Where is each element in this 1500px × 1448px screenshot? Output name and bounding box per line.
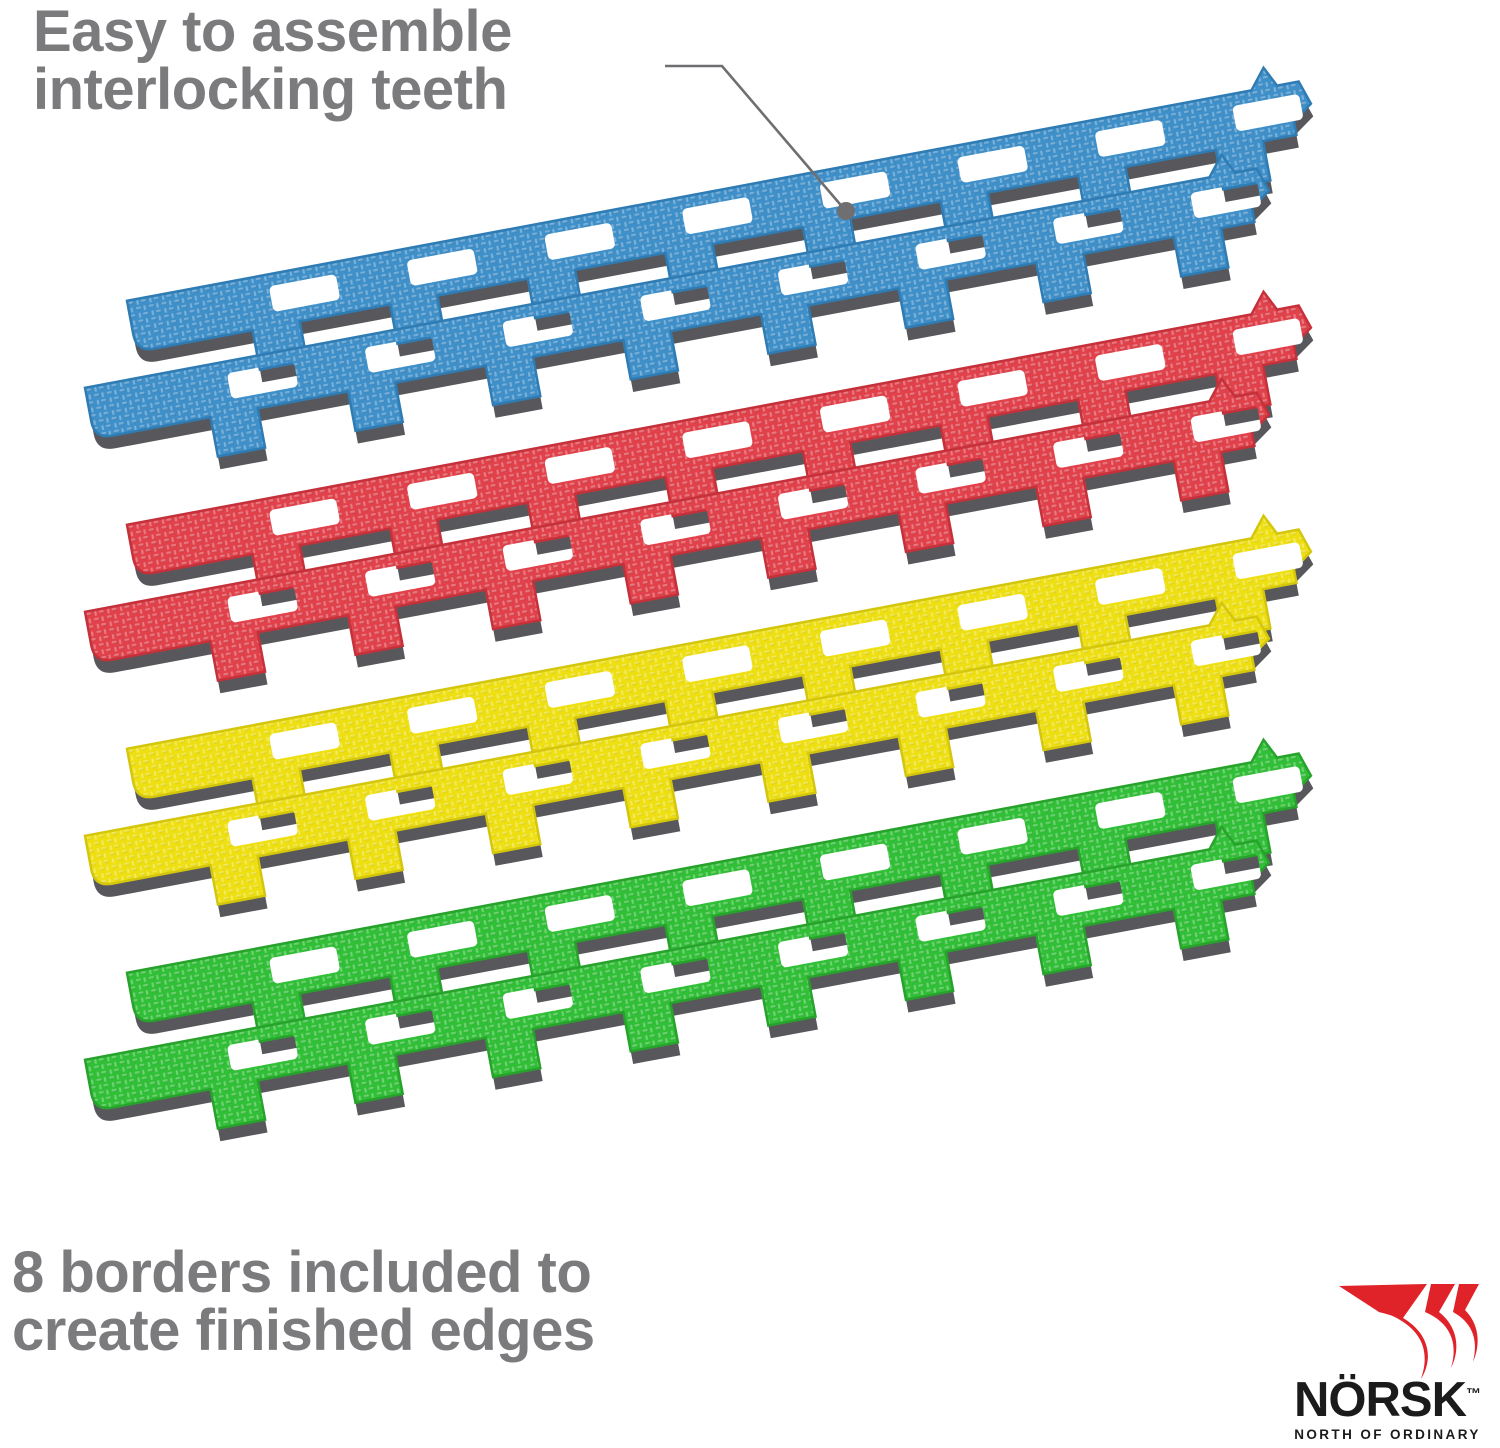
footline-text: 8 borders included to create finished ed…: [12, 1244, 595, 1360]
norsk-logo: NÖRSK™ NORTH OF ORDINARY: [1285, 1272, 1490, 1442]
headline-text: Easy to assemble interlocking teeth: [33, 3, 512, 119]
callout-leader: [640, 40, 900, 240]
logo-wordmark-text: NÖRSK: [1294, 1373, 1466, 1427]
leader-dot: [837, 202, 855, 220]
leader-line: [665, 66, 845, 210]
logo-wordmark: NÖRSK™: [1285, 1376, 1490, 1425]
norsk-swoosh-icon: [1331, 1272, 1486, 1382]
product-image-stage: Easy to assemble interlocking teeth 8 bo…: [0, 0, 1500, 1448]
logo-tagline: NORTH OF ORDINARY: [1285, 1427, 1490, 1442]
trademark-symbol: ™: [1466, 1386, 1481, 1403]
